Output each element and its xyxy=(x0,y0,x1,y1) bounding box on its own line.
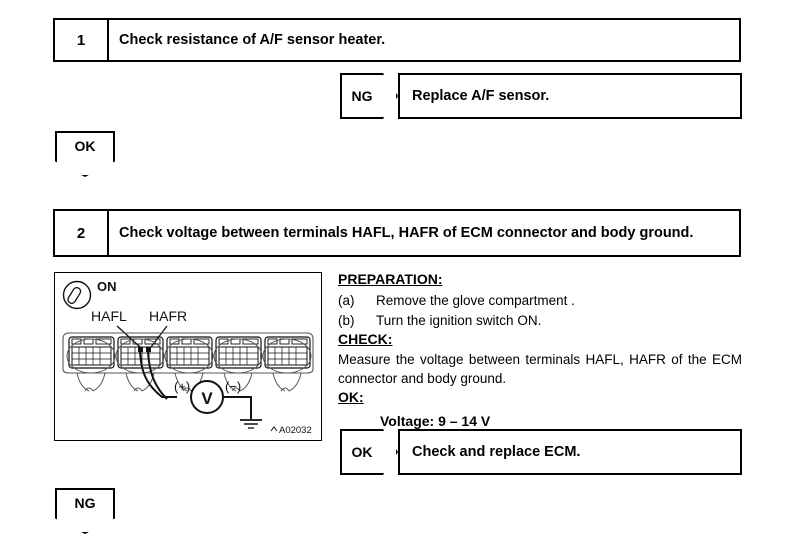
check-heading: CHECK: xyxy=(338,330,742,350)
ng-flow-label: NG xyxy=(55,488,115,518)
negative-polarity-label: (−) xyxy=(225,379,241,394)
step-1-ng-branch: NG Replace A/F sensor. xyxy=(340,73,742,119)
step-2-box: 2 Check voltage between terminals HAFL, … xyxy=(53,209,741,257)
ok-flow-label: OK xyxy=(55,131,115,161)
step-1-box: 1 Check resistance of A/F sensor heater. xyxy=(53,18,741,62)
ignition-switch-icon xyxy=(64,282,91,309)
check-body-text: Measure the voltage between terminals HA… xyxy=(338,350,742,388)
connector-block xyxy=(116,337,164,391)
instruction-column: PREPARATION: (a) Remove the glove compar… xyxy=(338,270,742,432)
ng-badge-label: NG xyxy=(340,73,398,119)
ng-flow-arrow: NG xyxy=(55,488,115,534)
preparation-item-b: (b) Turn the ignition switch ON. xyxy=(338,311,742,330)
step-2-number: 2 xyxy=(55,211,109,255)
ecm-connector-diagram: ON HAFL HAFR xyxy=(55,273,321,440)
preparation-item-a: (a) Remove the glove compartment . xyxy=(338,291,742,310)
ecm-connector-figure: ON HAFL HAFR xyxy=(54,272,322,441)
ok-heading: OK: xyxy=(338,388,742,408)
step-2-ok-branch: OK Check and replace ECM. xyxy=(340,429,742,475)
preparation-item-a-mark: (a) xyxy=(338,291,376,310)
hafl-label: HAFL xyxy=(91,308,127,324)
replace-af-sensor-box: Replace A/F sensor. xyxy=(398,73,742,119)
hafr-label: HAFR xyxy=(149,308,187,324)
preparation-heading: PREPARATION: xyxy=(338,270,742,290)
step-2-text: Check voltage between terminals HAFL, HA… xyxy=(109,211,739,255)
ok-flow-arrow: OK xyxy=(55,131,115,177)
ng-arrow-badge: NG xyxy=(340,73,398,119)
connector-block xyxy=(263,337,311,391)
positive-polarity-label: (+) xyxy=(174,379,190,394)
ok-arrow-badge: OK xyxy=(340,429,398,475)
check-replace-ecm-box: Check and replace ECM. xyxy=(398,429,742,475)
ok-badge-label: OK xyxy=(340,429,398,475)
step-1-number: 1 xyxy=(55,20,109,60)
step-1-text: Check resistance of A/F sensor heater. xyxy=(109,20,739,60)
preparation-item-a-text: Remove the glove compartment . xyxy=(376,291,742,310)
preparation-item-b-text: Turn the ignition switch ON. xyxy=(376,311,742,330)
figure-id-label: A02032 xyxy=(279,425,312,436)
ignition-on-label: ON xyxy=(97,279,117,294)
preparation-item-b-mark: (b) xyxy=(338,311,376,330)
svg-text:V: V xyxy=(201,389,213,408)
ground-lead xyxy=(223,397,251,419)
voltmeter-icon: V xyxy=(191,381,223,413)
connector-block xyxy=(67,337,115,391)
ground-symbol-icon xyxy=(240,420,262,428)
